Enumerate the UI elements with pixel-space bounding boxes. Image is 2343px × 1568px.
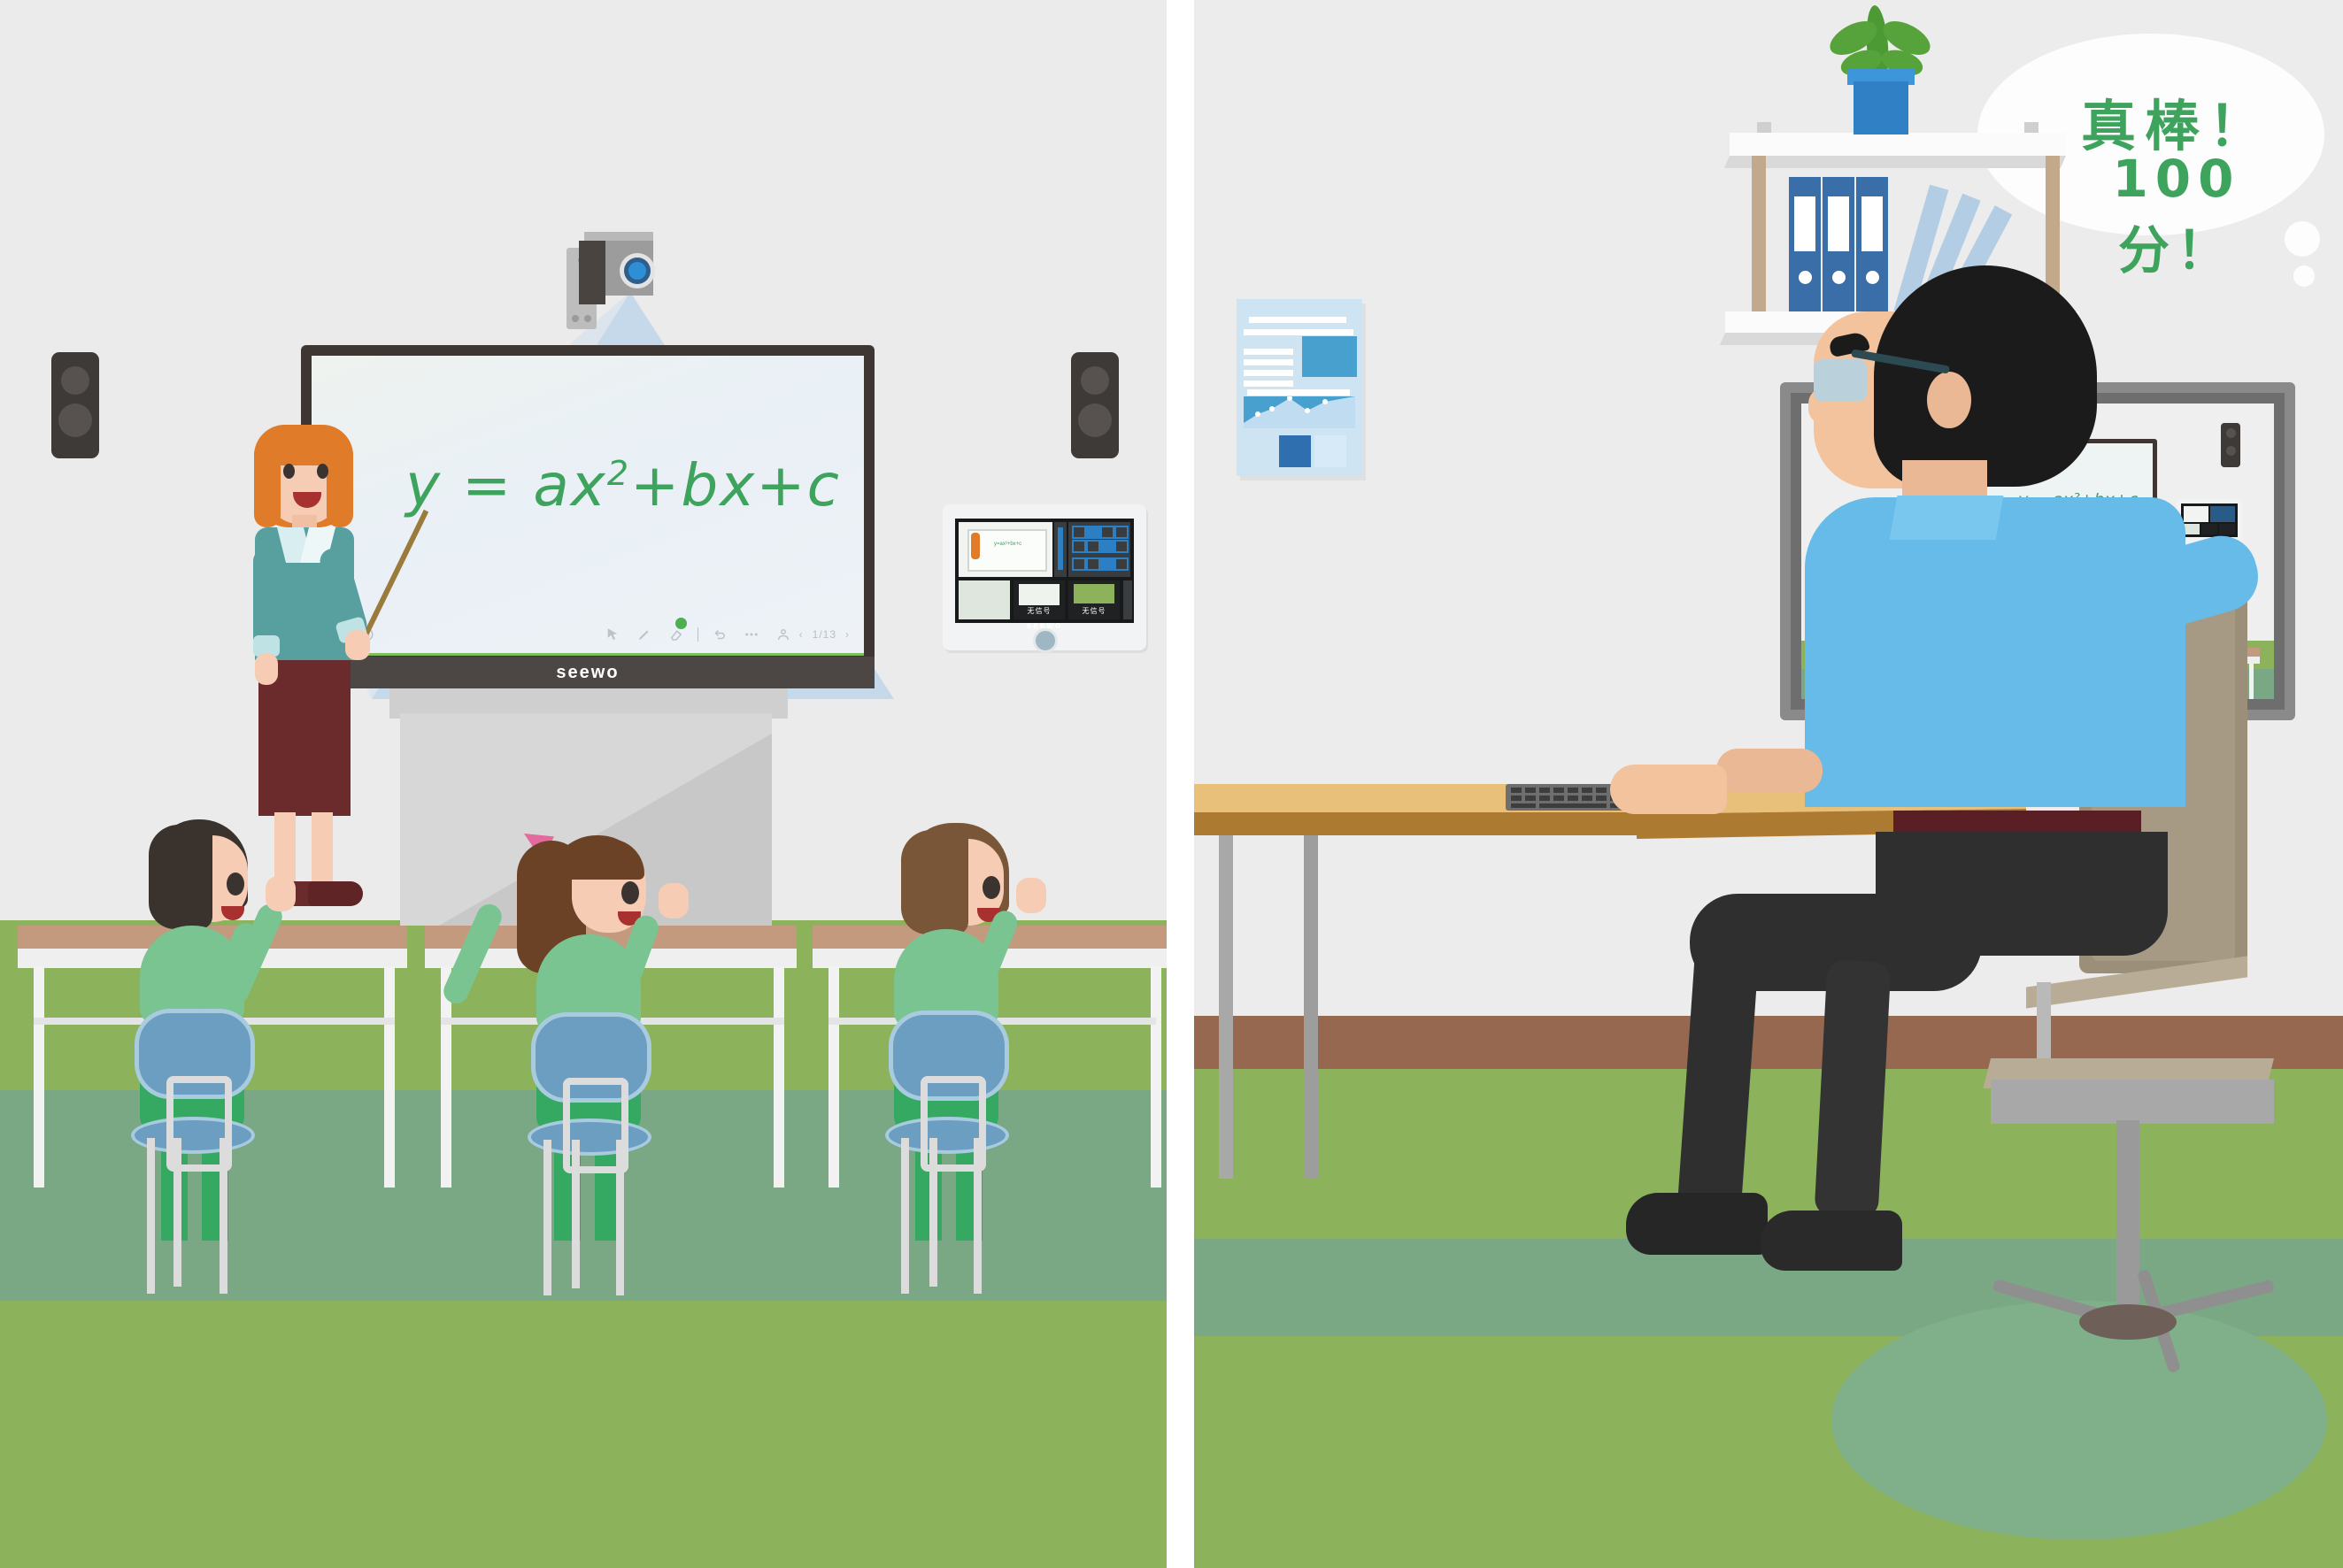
tablet-home-button[interactable] — [1033, 628, 1058, 653]
cursor-icon[interactable] — [605, 626, 620, 642]
teacher-hand-left — [255, 653, 278, 685]
chair-armrest-post — [2037, 982, 2051, 1058]
viewer-shin-right — [1814, 959, 1891, 1218]
equation-main: y = ax — [405, 451, 607, 519]
poster-line-chart — [1244, 396, 1355, 428]
student-hair-side — [901, 830, 968, 934]
stool-leg — [147, 1138, 155, 1294]
student-hand — [1016, 878, 1046, 913]
tablet-side-buttons[interactable] — [1123, 580, 1132, 619]
student-eye — [621, 881, 639, 904]
stool-frame — [563, 1078, 628, 1173]
speaker-cone-bottom — [1078, 404, 1112, 437]
whiteboard-brand-bar: seewo — [301, 657, 875, 688]
plant-pot — [1854, 81, 1908, 135]
pen-icon[interactable] — [636, 626, 652, 642]
shelf-upper-board — [1730, 133, 2066, 156]
poster-text-line — [1247, 389, 1350, 396]
speaker-cone-top — [61, 366, 89, 395]
poster-text-line — [1244, 370, 1293, 376]
tablet-feed-3-label: 无信号 — [1068, 606, 1120, 616]
thought-bubble-line-2: 100分！ — [2066, 149, 2287, 283]
mount-screw — [584, 315, 591, 322]
viewer-shoe-left — [1626, 1193, 1768, 1255]
poster-image-block — [1302, 336, 1357, 377]
poster-block — [1244, 435, 1276, 467]
export-icon[interactable] — [775, 626, 791, 642]
tablet-feed-2[interactable]: 无信号 — [1014, 580, 1065, 619]
more-icon[interactable] — [744, 626, 759, 642]
thought-bubble-dot-large — [2285, 221, 2320, 257]
chair-gas-lift — [2116, 1120, 2139, 1324]
chair-wheel-hub — [2079, 1304, 2177, 1340]
office-rug — [1831, 1301, 2327, 1540]
poster-text-line — [1244, 359, 1293, 365]
binder — [1789, 177, 1821, 313]
shelf-upper-shadow — [1724, 156, 2066, 168]
stool-frame — [921, 1076, 986, 1172]
poster-text-line — [1244, 349, 1293, 355]
tablet-main-preview[interactable]: y=ax²+bx+c — [959, 522, 1052, 577]
poster-block — [1314, 435, 1346, 467]
tablet-feed-1[interactable] — [959, 580, 1010, 619]
stool-frame — [166, 1076, 232, 1172]
panel-classroom: y = ax2+bx+c ‹ 1/13 › seewo — [0, 0, 1167, 1568]
student-hand — [266, 876, 296, 911]
panel-divider — [1167, 0, 1194, 1568]
whiteboard-brand-label: seewo — [556, 663, 619, 683]
equation-exponent: 2 — [607, 454, 630, 493]
speaker-cone-top — [1081, 366, 1109, 395]
camera-front — [579, 241, 605, 304]
tablet-screen[interactable]: y=ax²+bx+c — [955, 519, 1134, 623]
tablet-feed-3[interactable]: 无信号 — [1068, 580, 1120, 619]
classroom-floor-lower — [0, 1301, 1167, 1568]
student-hand — [659, 883, 689, 919]
viewer-shoe-right — [1761, 1211, 1902, 1271]
speaker-right — [1071, 352, 1119, 458]
tablet-button-grid[interactable] — [1068, 522, 1130, 577]
notification-badge-icon — [675, 618, 687, 629]
desk-leg — [1151, 966, 1161, 1188]
poster-text-line — [1244, 380, 1293, 387]
desk-leg — [774, 966, 784, 1188]
desk-leg-front — [1219, 832, 1233, 1179]
poster-text-line — [1244, 329, 1353, 335]
viewer-ear — [1927, 372, 1971, 428]
desk-leg — [34, 966, 44, 1188]
desk-leg — [384, 966, 395, 1188]
viewer-hair — [1874, 265, 2097, 487]
desk-edge — [1194, 812, 1672, 835]
thought-bubble-dot-small — [2293, 265, 2315, 287]
tablet-slider[interactable] — [1054, 522, 1067, 577]
teacher-eye-right — [317, 464, 328, 479]
whiteboard-equation: y = ax2+bx+c — [405, 451, 841, 519]
student-eye — [983, 876, 1000, 899]
speaker-cone-bottom — [58, 404, 92, 437]
prev-page-button[interactable]: ‹ — [799, 628, 804, 641]
viewer-hand-on-keyboard — [1610, 765, 1727, 814]
stool-leg — [901, 1138, 909, 1294]
teacher-shoe-right — [308, 881, 363, 906]
undo-icon[interactable] — [712, 626, 728, 642]
whiteboard-accent-line — [312, 653, 864, 656]
page-indicator-group[interactable]: ‹ 1/13 › — [799, 628, 850, 641]
teacher-hair-left — [254, 442, 281, 527]
stool-leg — [543, 1140, 551, 1295]
teacher-leg-right — [312, 812, 333, 888]
binder — [1823, 177, 1854, 313]
illustration-canvas: y = ax2+bx+c ‹ 1/13 › seewo — [0, 0, 2343, 1568]
toolbar-divider — [698, 627, 698, 642]
shelf-post-left — [1752, 156, 1766, 315]
chair-seat-base — [1991, 1080, 2274, 1124]
viewer-hand-back — [1716, 749, 1823, 793]
desk-leg-back — [1304, 832, 1318, 1179]
tablet-feed-2-label: 无信号 — [1014, 606, 1065, 616]
mount-screw — [572, 315, 579, 322]
page-indicator: 1/13 — [813, 628, 836, 641]
poster-text-line — [1249, 317, 1346, 323]
panel-remote-office: 真棒！ 100分！ — [1194, 0, 2343, 1568]
equation-tail: +bx+c — [630, 451, 841, 519]
viewer-collar — [1890, 496, 2004, 540]
speaker-left — [51, 352, 99, 458]
binder — [1856, 177, 1888, 313]
next-page-button[interactable]: › — [845, 628, 850, 641]
teacher-hand-right — [345, 630, 370, 660]
glasses-lens-icon — [1814, 359, 1867, 402]
poster-block — [1279, 435, 1311, 467]
student-eye — [227, 872, 244, 895]
camera-lens-icon — [628, 262, 646, 280]
teacher-eye-left — [283, 464, 295, 479]
desk-leg — [829, 966, 839, 1188]
student-hair-side — [149, 825, 212, 929]
whiteboard-toolbar[interactable]: ‹ 1/13 › — [319, 619, 857, 649]
teacher-hair-right — [327, 442, 353, 527]
